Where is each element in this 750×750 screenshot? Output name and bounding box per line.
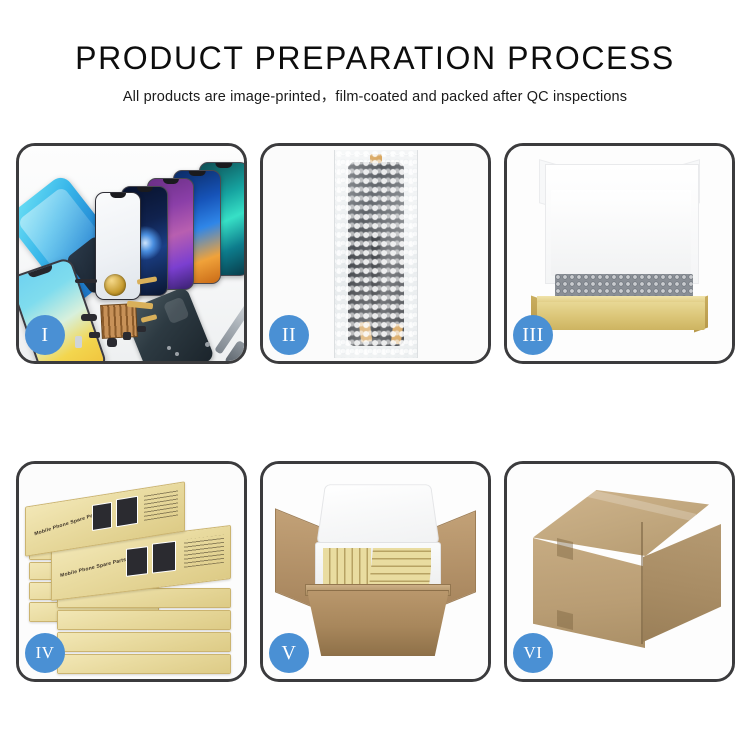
step-badge-1: I bbox=[25, 315, 65, 355]
small-part-chip bbox=[81, 314, 97, 321]
screw-part bbox=[205, 342, 210, 347]
small-part-chip bbox=[75, 279, 97, 283]
box-spec-lines bbox=[184, 535, 224, 568]
retail-box-plain bbox=[57, 654, 231, 674]
carton-body bbox=[307, 590, 449, 656]
screw-map-sheet bbox=[100, 303, 138, 339]
retail-box-plain bbox=[57, 632, 231, 652]
small-part-chip bbox=[107, 338, 117, 347]
box-window-left bbox=[92, 502, 112, 531]
process-step-card-3[interactable]: III bbox=[504, 143, 735, 364]
page-subtitle: All products are image-printed，film-coat… bbox=[0, 76, 750, 106]
process-step-grid: I II III bbox=[16, 143, 735, 683]
step-badge-5: V bbox=[269, 633, 309, 673]
foam-box-lid bbox=[316, 484, 439, 544]
box-spec-lines bbox=[144, 489, 178, 520]
yellow-boxes-right-group bbox=[369, 548, 431, 588]
box-window-left bbox=[126, 546, 148, 577]
box-window-right bbox=[152, 541, 176, 574]
inner-box-front-wall bbox=[537, 302, 705, 330]
phone-screen-fan bbox=[95, 160, 244, 292]
step-badge-6: VI bbox=[513, 633, 553, 673]
process-step-card-1[interactable]: I bbox=[16, 143, 247, 364]
foam-box-contents bbox=[323, 548, 431, 588]
retail-box-plain bbox=[57, 610, 231, 630]
process-step-card-5[interactable]: V bbox=[260, 461, 491, 682]
step-badge-3: III bbox=[513, 315, 553, 355]
page-title: PRODUCT PREPARATION PROCESS bbox=[0, 0, 750, 76]
screw-part bbox=[167, 346, 171, 350]
plastic-sheen bbox=[335, 150, 417, 358]
yellow-boxes-left-group bbox=[323, 548, 371, 588]
carton-tape-upper bbox=[557, 538, 573, 560]
step-badge-2: II bbox=[269, 315, 309, 355]
small-part-bracket bbox=[75, 336, 82, 348]
small-part-chip bbox=[123, 332, 131, 340]
box-window-right bbox=[116, 496, 138, 527]
small-part-chip bbox=[89, 332, 100, 338]
page-header: PRODUCT PREPARATION PROCESS All products… bbox=[0, 0, 750, 128]
gold-coil-part bbox=[104, 274, 126, 296]
small-part-chip bbox=[137, 326, 146, 332]
carton-vertical-edge bbox=[641, 522, 643, 644]
screw-part bbox=[175, 352, 179, 356]
process-step-card-4[interactable]: Mobile Phone Spare Parts Mobile Phone Sp… bbox=[16, 461, 247, 682]
process-step-card-6[interactable]: VI bbox=[504, 461, 735, 682]
step-badge-4: IV bbox=[25, 633, 65, 673]
process-step-card-2[interactable]: II bbox=[260, 143, 491, 364]
white-foam-padding bbox=[551, 190, 691, 276]
